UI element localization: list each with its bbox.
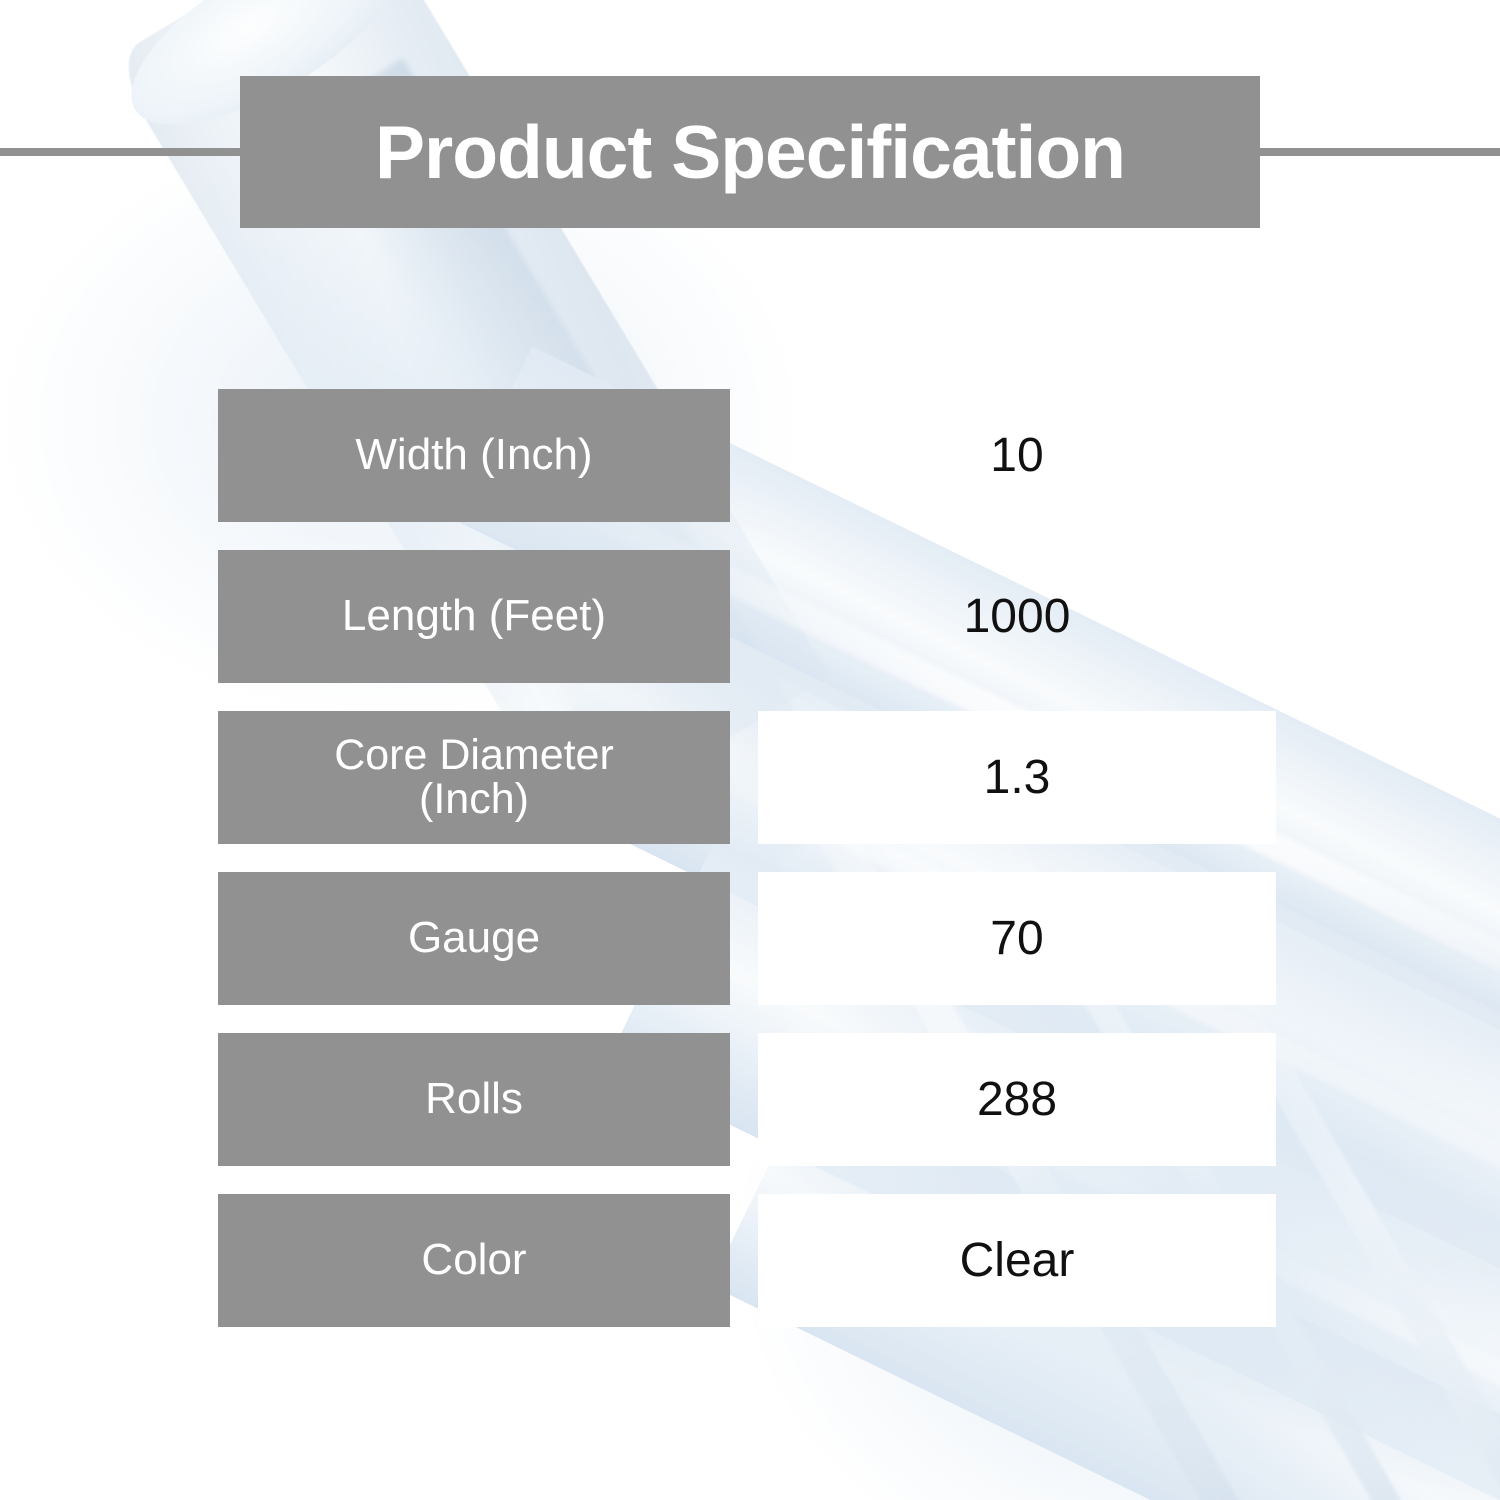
spec-value-core-diameter: 1.3	[758, 711, 1276, 844]
table-row: Length (Feet) 1000	[0, 550, 1500, 683]
table-row: Core Diameter (Inch) 1.3	[0, 711, 1500, 844]
spec-value-length: 1000	[758, 550, 1276, 683]
spec-label-width: Width (Inch)	[218, 389, 730, 522]
spec-value-rolls: 288	[758, 1033, 1276, 1166]
spec-label-core-diameter: Core Diameter (Inch)	[218, 711, 730, 844]
spec-value-gauge: 70	[758, 872, 1276, 1005]
spec-label-gauge: Gauge	[218, 872, 730, 1005]
product-specification-card: Product Specification Width (Inch) 10 Le…	[0, 0, 1500, 1500]
table-row: Rolls 288	[0, 1033, 1500, 1166]
spec-label-color: Color	[218, 1194, 730, 1327]
table-row: Width (Inch) 10	[0, 389, 1500, 522]
spec-label-rolls: Rolls	[218, 1033, 730, 1166]
page-title: Product Specification	[375, 115, 1125, 190]
title-banner: Product Specification	[240, 76, 1260, 228]
spec-value-width: 10	[758, 389, 1276, 522]
spec-value-color: Clear	[758, 1194, 1276, 1327]
table-row: Gauge 70	[0, 872, 1500, 1005]
table-row: Color Clear	[0, 1194, 1500, 1327]
specification-table: Width (Inch) 10 Length (Feet) 1000 Core …	[0, 389, 1500, 1355]
spec-label-length: Length (Feet)	[218, 550, 730, 683]
